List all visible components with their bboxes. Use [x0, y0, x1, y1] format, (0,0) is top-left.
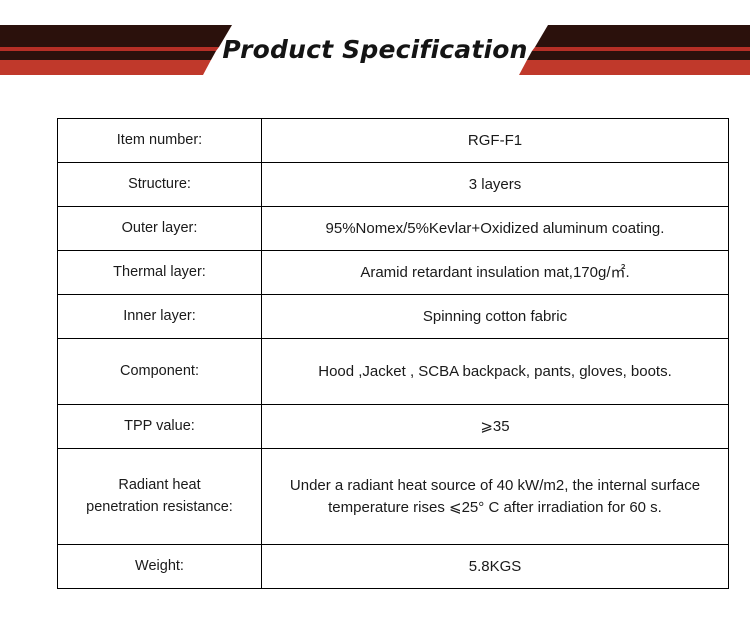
spec-label-structure: Structure:	[58, 163, 262, 207]
table-row: Thermal layer: Aramid retardant insulati…	[58, 251, 729, 295]
spec-label-outer-layer: Outer layer:	[58, 207, 262, 251]
table-row: Component: Hood ,Jacket , SCBA backpack,…	[58, 339, 729, 405]
spec-label-item-number: Item number:	[58, 119, 262, 163]
spec-value-tpp-value: ⩾35	[262, 405, 729, 449]
header-banner: Product Specification	[0, 0, 750, 100]
spec-label-inner-layer: Inner layer:	[58, 295, 262, 339]
spec-label-weight: Weight:	[58, 545, 262, 589]
table-row: Item number: RGF-F1	[58, 119, 729, 163]
table-row: Structure: 3 layers	[58, 163, 729, 207]
spec-value-item-number: RGF-F1	[262, 119, 729, 163]
spec-value-structure: 3 layers	[262, 163, 729, 207]
spec-label-thermal-layer: Thermal layer:	[58, 251, 262, 295]
spec-label-component: Component:	[58, 339, 262, 405]
page-title: Product Specification	[0, 25, 750, 75]
spec-value-outer-layer: 95%Nomex/5%Kevlar+Oxidized aluminum coat…	[262, 207, 729, 251]
product-specification-table: Item number: RGF-F1 Structure: 3 layers …	[57, 118, 729, 589]
spec-value-thermal-layer: Aramid retardant insulation mat,170g/㎡.	[262, 251, 729, 295]
spec-label-tpp-value: TPP value:	[58, 405, 262, 449]
spec-value-radiant-heat-penetration-resistance: Under a radiant heat source of 40 kW/m2,…	[262, 449, 729, 545]
table-row: TPP value: ⩾35	[58, 405, 729, 449]
spec-value-weight: 5.8KGS	[262, 545, 729, 589]
table-row: Inner layer: Spinning cotton fabric	[58, 295, 729, 339]
spec-label-radiant-heat-penetration-resistance: Radiant heatpenetration resistance:	[58, 449, 262, 545]
table-row: Weight: 5.8KGS	[58, 545, 729, 589]
table-row: Radiant heatpenetration resistance: Unde…	[58, 449, 729, 545]
spec-value-inner-layer: Spinning cotton fabric	[262, 295, 729, 339]
spec-value-component: Hood ,Jacket , SCBA backpack, pants, glo…	[262, 339, 729, 405]
table-row: Outer layer: 95%Nomex/5%Kevlar+Oxidized …	[58, 207, 729, 251]
spec-table-body: Item number: RGF-F1 Structure: 3 layers …	[58, 119, 729, 589]
